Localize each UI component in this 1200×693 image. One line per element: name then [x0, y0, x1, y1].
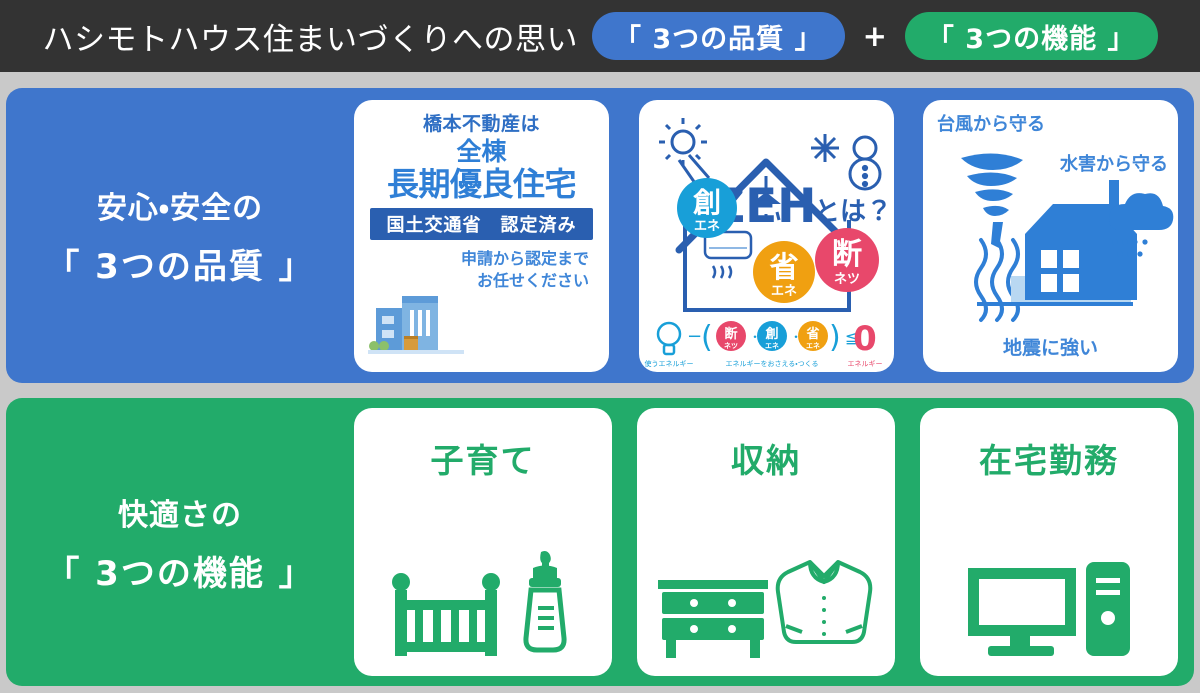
- house-building-icon: [368, 284, 464, 362]
- svg-text:断: 断: [724, 326, 737, 342]
- formula-paren-close: ): [829, 320, 841, 355]
- quality-cards: 橋本不動産は 全棟 長期優良住宅 国土交通省 認定済み 申請から認定まで お任せ…: [354, 100, 1194, 372]
- formula-zero: 0: [853, 319, 877, 359]
- svg-text:ネツ: ネツ: [724, 342, 738, 350]
- svg-text:断: 断: [832, 237, 862, 272]
- svg-text:創: 創: [692, 186, 720, 219]
- card-zaitaku-title: 在宅勤務: [979, 434, 1119, 482]
- snowflake-icon: [811, 134, 839, 162]
- formula-caption-right: エネルギー: [847, 360, 882, 368]
- card-zeh[interactable]: ZEH とは？ 創 エネ 省 エネ: [639, 100, 894, 372]
- monitor-icon: [966, 566, 1078, 658]
- snowman-icon: [850, 137, 880, 189]
- card-disaster-protection[interactable]: 台風から守る 水害から守る 地震に強い: [923, 100, 1178, 372]
- formula-caption-mid: エネルギーをおさえる・つくる: [725, 360, 818, 368]
- sun-icon: [659, 118, 709, 186]
- row-function-label-line2: 「 3つの機能 」: [45, 546, 314, 595]
- card-kosodate-title: 子育て: [431, 434, 536, 482]
- row-function-label: 快適さの 「 3つの機能 」: [6, 490, 354, 595]
- svg-text:省: 省: [805, 326, 819, 342]
- badge-three-functions: 「 3つの機能 」: [905, 12, 1158, 60]
- dresser-icon: [658, 580, 768, 658]
- card-shuunou[interactable]: 収納: [637, 408, 895, 676]
- card1-certification-band: 国土交通省 認定済み: [370, 208, 593, 240]
- baby-bottle-icon: [513, 550, 577, 658]
- house-icon: [1025, 180, 1137, 300]
- infographic-page: ハシモトハウス住まいづくりへの思い 「 3つの品質 」 + 「 3つの機能 」 …: [0, 0, 1200, 693]
- card1-line2: 全棟: [364, 138, 599, 166]
- card-shuunou-icons: [658, 482, 874, 676]
- svg-text:省: 省: [769, 250, 798, 284]
- svg-text:エネ: エネ: [693, 219, 719, 234]
- crib-icon: [389, 566, 507, 658]
- shirt-icon: [774, 552, 874, 658]
- formula-minus: −: [687, 326, 702, 347]
- card-chouki-yuuryou[interactable]: 橋本不動産は 全棟 長期優良住宅 国土交通省 認定済み 申請から認定まで お任せ…: [354, 100, 609, 372]
- row-quality-label-line2: 「 3つの品質 」: [45, 239, 314, 288]
- zeh-title-suffix: とは？: [814, 197, 892, 227]
- header-bar: ハシモトハウス住まいづくりへの思い 「 3つの品質 」 + 「 3つの機能 」: [0, 0, 1200, 72]
- svg-text:創: 創: [764, 326, 778, 342]
- svg-text:エネ: エネ: [806, 342, 820, 350]
- disaster-illustration: [923, 100, 1178, 372]
- function-cards: 子育て: [354, 408, 1194, 676]
- page-title: ハシモトハウス住まいづくりへの思い: [43, 14, 579, 59]
- badge-create-energy: 創 エネ: [677, 178, 737, 238]
- badge-three-qualities: 「 3つの品質 」: [592, 12, 845, 60]
- plus-symbol: +: [859, 19, 891, 53]
- ground-line: [977, 302, 1133, 306]
- card-zaitaku-icons: [966, 482, 1132, 676]
- pc-tower-icon: [1084, 560, 1132, 658]
- card1-line3: 長期優良住宅: [364, 167, 599, 202]
- card-kosodate-icons: [389, 482, 577, 676]
- badge-save-energy: 省 エネ: [753, 241, 815, 303]
- formula-paren-open: (: [701, 320, 713, 355]
- card-shuunou-title: 収納: [731, 434, 801, 482]
- row-function-label-line1: 快適さの: [118, 490, 242, 534]
- zeh-diagram: ZEH とは？ 創 エネ 省 エネ: [639, 100, 894, 372]
- air-conditioner-icon: [705, 232, 751, 278]
- row-function: 快適さの 「 3つの機能 」 子育て: [6, 398, 1194, 686]
- svg-text:ネツ: ネツ: [833, 272, 859, 287]
- svg-text:エネ: エネ: [770, 284, 796, 299]
- card-kosodate[interactable]: 子育て: [354, 408, 612, 676]
- row-quality-label-line1: 安心・安全の: [97, 183, 263, 227]
- card1-line1: 橋本不動産は: [364, 114, 599, 136]
- badge-insulation: 断 ネツ: [815, 228, 879, 292]
- card1-note-line1: 申請から認定まで: [364, 248, 589, 270]
- lightbulb-icon: [658, 323, 680, 354]
- tornado-icon: [961, 153, 1023, 248]
- row-quality-label: 安心・安全の 「 3つの品質 」: [6, 183, 354, 288]
- row-quality: 安心・安全の 「 3つの品質 」 橋本不動産は 全棟 長期優良住宅 国土交通省 …: [6, 88, 1194, 383]
- zeh-formula: − ( 断 ネツ ・ 創 エネ ・ 省 エネ ) ≦: [644, 319, 882, 368]
- svg-text:エネ: エネ: [765, 342, 779, 350]
- card-zaitaku[interactable]: 在宅勤務: [920, 408, 1178, 676]
- formula-caption-left: 使うエネルギー: [644, 359, 693, 368]
